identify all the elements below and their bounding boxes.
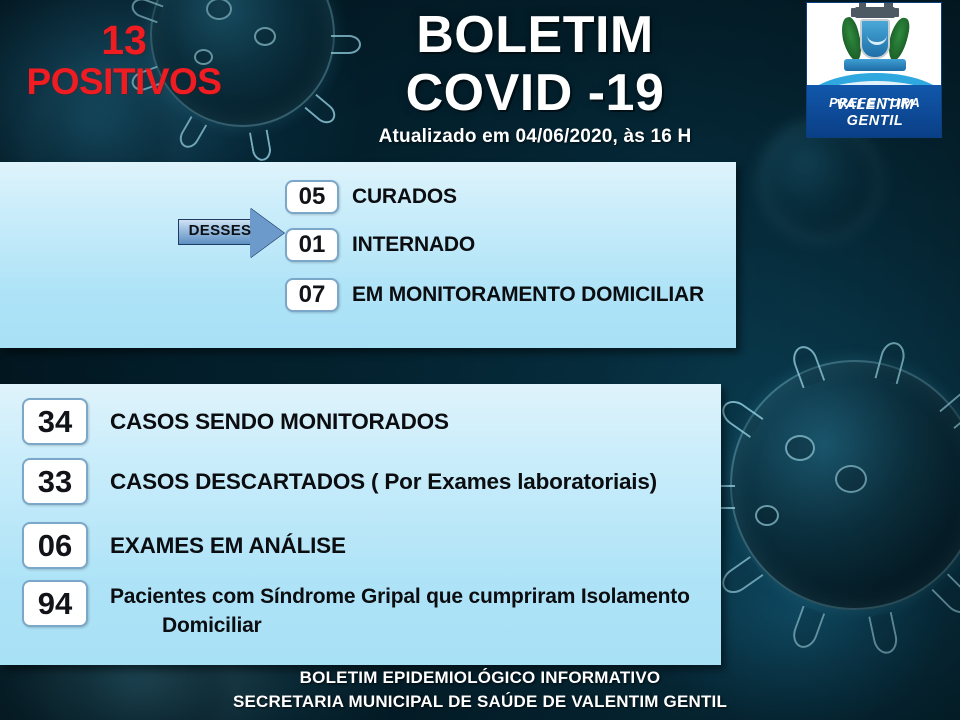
list-item: 33 CASOS DESCARTADOS ( Por Exames labora… [22,458,657,505]
status-badge: 01 [285,228,339,262]
prefeitura-logo: PREFEITURA VALENTIM GENTIL [806,2,942,138]
status-badge: 94 [22,580,88,627]
list-item-label: INTERNADO [352,233,475,257]
list-item: 05 CURADOS [285,180,457,214]
list-item: 94 Pacientes com Síndrome Gripal que cum… [22,580,690,640]
positivos-total: 13 POSITIVOS [18,18,230,102]
positivos-total-number: 13 [18,18,230,62]
list-item-label: EXAMES EM ANÁLISE [110,522,346,560]
footer: BOLETIM EPIDEMIOLÓGICO INFORMATIVO SECRE… [0,666,960,714]
list-item-label-line2: Domiciliar [110,611,690,640]
desses-arrow-icon: DESSES [178,208,288,260]
list-item: 34 CASOS SENDO MONITORADOS [22,398,449,445]
status-badge: 05 [285,180,339,214]
list-item-label-line1: Pacientes com Síndrome Gripal que cumpri… [110,585,690,608]
list-item-label: CURADOS [352,185,457,209]
footer-line1: BOLETIM EPIDEMIOLÓGICO INFORMATIVO [0,666,960,690]
status-badge: 33 [22,458,88,505]
status-badge: 06 [22,522,88,569]
desses-arrow-label: DESSES [182,222,258,239]
page-title-line2: COVID -19 [300,64,770,122]
page-title-line1: BOLETIM [300,6,770,64]
list-item-label: CASOS SENDO MONITORADOS [110,398,449,436]
list-item-label: CASOS DESCARTADOS ( Por Exames laborator… [110,458,657,496]
status-badge: 07 [285,278,339,312]
update-timestamp: Atualizado em 04/06/2020, às 16 H [300,126,770,148]
coat-of-arms-icon [841,7,909,81]
list-item-label: EM MONITORAMENTO DOMICILIAR [352,283,704,307]
logo-name-line2: VALENTIM GENTIL [807,97,942,129]
page-title: BOLETIM COVID -19 [300,6,770,122]
footer-line2: SECRETARIA MUNICIPAL DE SAÚDE DE VALENTI… [0,690,960,714]
infographic-canvas: BOLETIM COVID -19 Atualizado em 04/06/20… [0,0,960,720]
list-item-label: Pacientes com Síndrome Gripal que cumpri… [110,580,690,640]
list-item: 07 EM MONITORAMENTO DOMICILIAR [285,278,704,312]
positivos-total-label: POSITIVOS [18,62,230,102]
list-item: 01 INTERNADO [285,228,475,262]
status-badge: 34 [22,398,88,445]
list-item: 06 EXAMES EM ANÁLISE [22,522,346,569]
